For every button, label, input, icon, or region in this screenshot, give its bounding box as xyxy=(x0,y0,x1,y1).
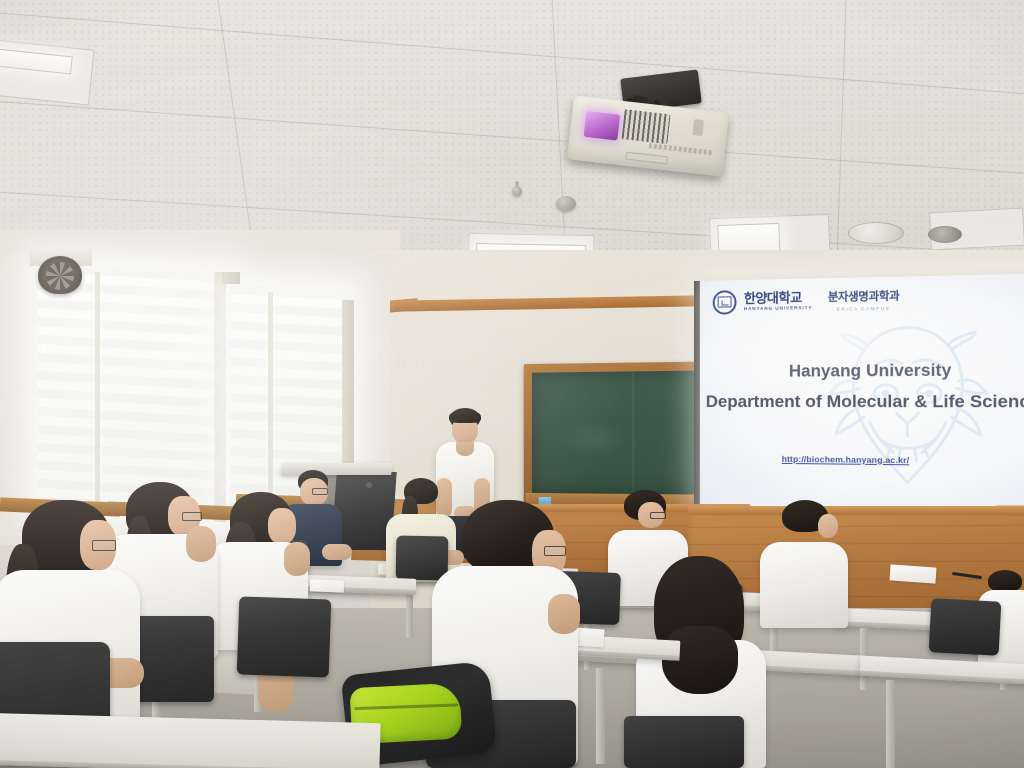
eyeglasses xyxy=(92,540,116,551)
ceiling-projector xyxy=(570,74,730,169)
department-block: 분자생명과학과 ERICA CAMPUS xyxy=(828,287,900,312)
podium-control-knob xyxy=(366,482,372,488)
student-hair xyxy=(988,570,1022,592)
university-name-english: HANYANG UNIVERSITY xyxy=(744,306,813,312)
notebook-paper xyxy=(889,564,936,583)
projector-body xyxy=(567,95,729,176)
university-name-korean: 한양대학교 xyxy=(744,291,813,305)
student-arm xyxy=(322,544,352,560)
student-arm xyxy=(548,594,580,634)
projector-lens xyxy=(584,111,621,141)
eyeglasses xyxy=(544,546,566,556)
slide-title-line2: Department of Molecular & Life Science xyxy=(700,392,1024,413)
slide-title-block: Hanyang University Department of Molecul… xyxy=(700,361,1024,413)
slide-header: 한양대학교 HANYANG UNIVERSITY 분자생명과학과 ERICA C… xyxy=(713,284,1024,314)
hanyang-logo-icon xyxy=(713,290,737,315)
sprinkler-head xyxy=(512,186,522,196)
projector-brand-label xyxy=(649,143,713,155)
notebook-paper xyxy=(310,579,344,592)
chair xyxy=(624,716,744,768)
student-arm xyxy=(284,542,310,576)
smoke-detector xyxy=(556,196,576,211)
projector-vent xyxy=(621,109,670,144)
wall-fan-icon xyxy=(38,256,82,294)
eyeglasses xyxy=(182,512,202,521)
chair xyxy=(237,596,332,677)
classroom-photo: 한양대학교 HANYANG UNIVERSITY 분자생명과학과 ERICA C… xyxy=(0,0,1024,768)
projector-filter-slot xyxy=(625,152,668,165)
university-name-block: 한양대학교 HANYANG UNIVERSITY xyxy=(744,291,813,312)
desk-leg xyxy=(596,668,605,764)
department-name-korean: 분자생명과학과 xyxy=(828,287,900,305)
chalk-smudge xyxy=(560,421,629,458)
wainscot-cap-rail xyxy=(688,506,1024,516)
student-head xyxy=(268,508,296,544)
chair xyxy=(929,598,1002,656)
ceiling-speaker xyxy=(848,222,904,244)
window-header xyxy=(222,272,240,284)
projection-screen: 한양대학교 HANYANG UNIVERSITY 분자생명과학과 ERICA C… xyxy=(694,273,1024,530)
presenter-collar xyxy=(456,442,474,456)
student-hand-near-face xyxy=(186,526,216,562)
desk-leg xyxy=(886,680,895,768)
student-shirt xyxy=(760,542,848,628)
student-right-mid-2 xyxy=(760,500,854,628)
chalkboard-panel-seam xyxy=(633,371,634,495)
window-mullion xyxy=(268,292,273,508)
projected-slide: 한양대학교 HANYANG UNIVERSITY 분자생명과학과 ERICA C… xyxy=(700,273,1024,530)
eyeglasses xyxy=(650,512,666,519)
desk-foreground xyxy=(0,713,381,768)
ceiling-downlight xyxy=(928,226,962,243)
slide-url-link[interactable]: http://biochem.hanyang.ac.kr/ xyxy=(700,453,997,466)
window-mullion xyxy=(95,272,100,520)
projector-adjuster-knob xyxy=(692,119,704,136)
student-head xyxy=(818,514,838,538)
department-campus: ERICA CAMPUS xyxy=(837,306,890,312)
presenter-hair-front xyxy=(449,410,481,423)
slide-title-line1: Hanyang University xyxy=(700,361,1024,382)
